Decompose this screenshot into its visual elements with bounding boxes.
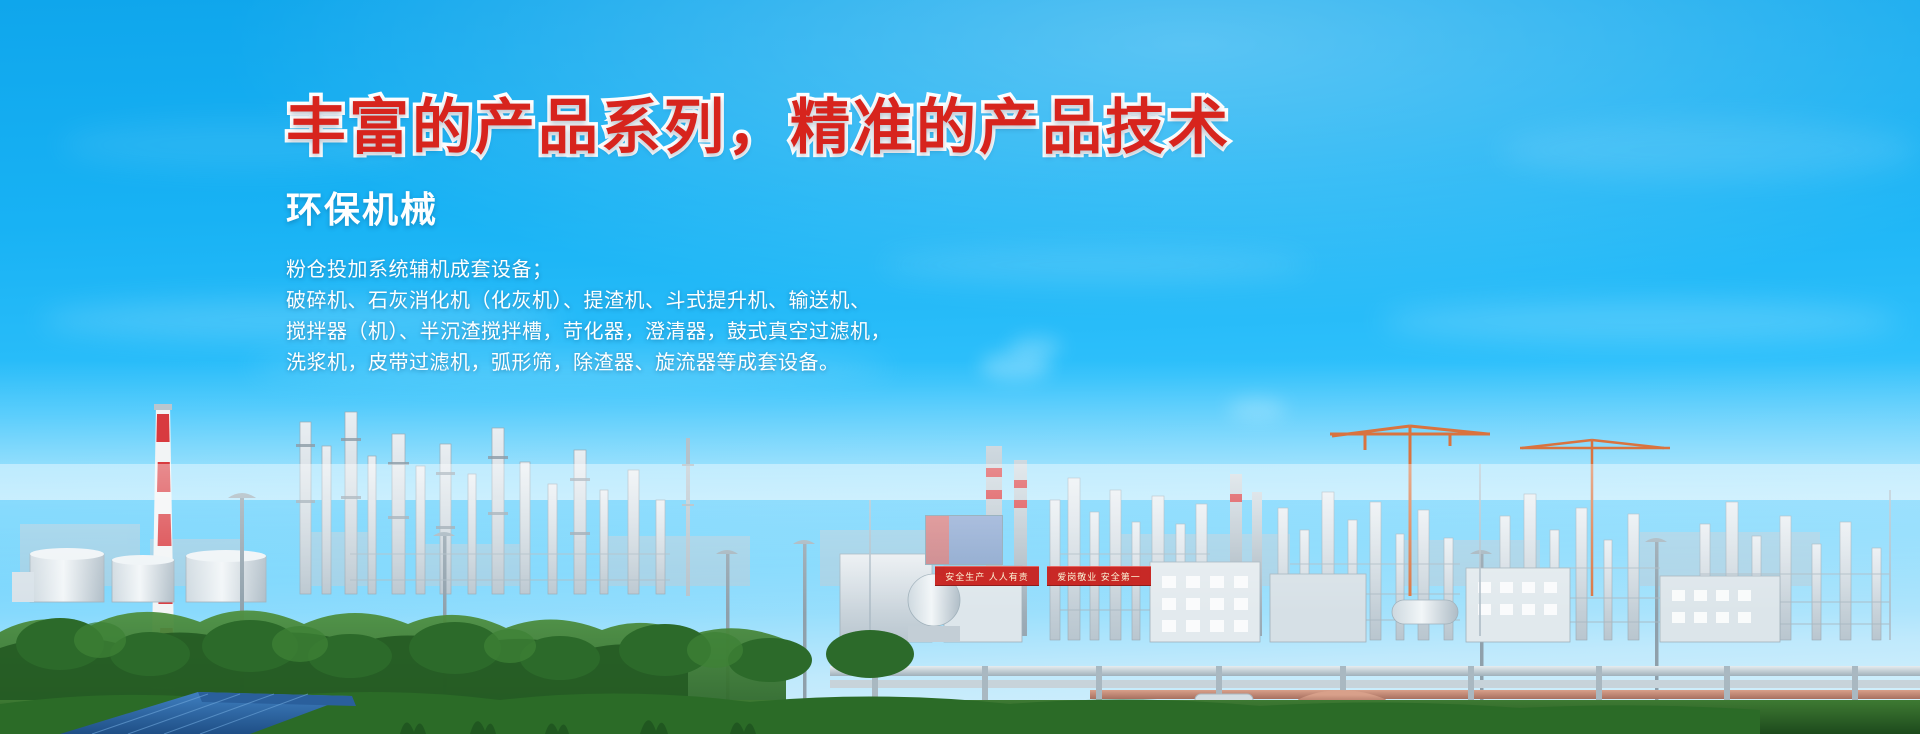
cloud-wisp-5 [1500,120,1920,180]
banner-description: 粉仓投加系统辅机成套设备； 破碎机、石灰消化机（化灰机）、提渣机、斗式提升机、输… [286,255,1386,379]
description-line: 洗浆机，皮带过滤机，弧形筛，除渣器、旋流器等成套设备。 [286,348,1386,379]
safety-banner-text: 爱岗敬业 安全第一 [1047,567,1151,587]
description-line: 破碎机、石灰消化机（化灰机）、提渣机、斗式提升机、输送机、 [286,286,1386,317]
hero-banner: 丰富的产品系列，精准的产品技术 环保机械 粉仓投加系统辅机成套设备； 破碎机、石… [0,0,1920,734]
page-title: 丰富的产品系列，精准的产品技术 [286,96,1386,159]
safety-banner-text: 安全生产 人人有责 [935,567,1039,587]
banner-subtitle: 环保机械 [286,181,1386,233]
safety-banner: 爱岗敬业 安全第一 [1047,566,1151,586]
banner-copy: 丰富的产品系列，精准的产品技术 环保机械 粉仓投加系统辅机成套设备； 破碎机、石… [286,96,1386,379]
description-line: 粉仓投加系统辅机成套设备； [286,255,1386,286]
safety-banner: 安全生产 人人有责 [935,566,1039,586]
description-line: 搅拌器（机）、半沉渣搅拌槽，苛化器，澄清器，鼓式真空过滤机， [286,317,1386,348]
plant-logo-mark [926,516,1002,564]
plant-logo-sign [925,515,1003,565]
cloud-wisp-4 [1380,300,1900,342]
